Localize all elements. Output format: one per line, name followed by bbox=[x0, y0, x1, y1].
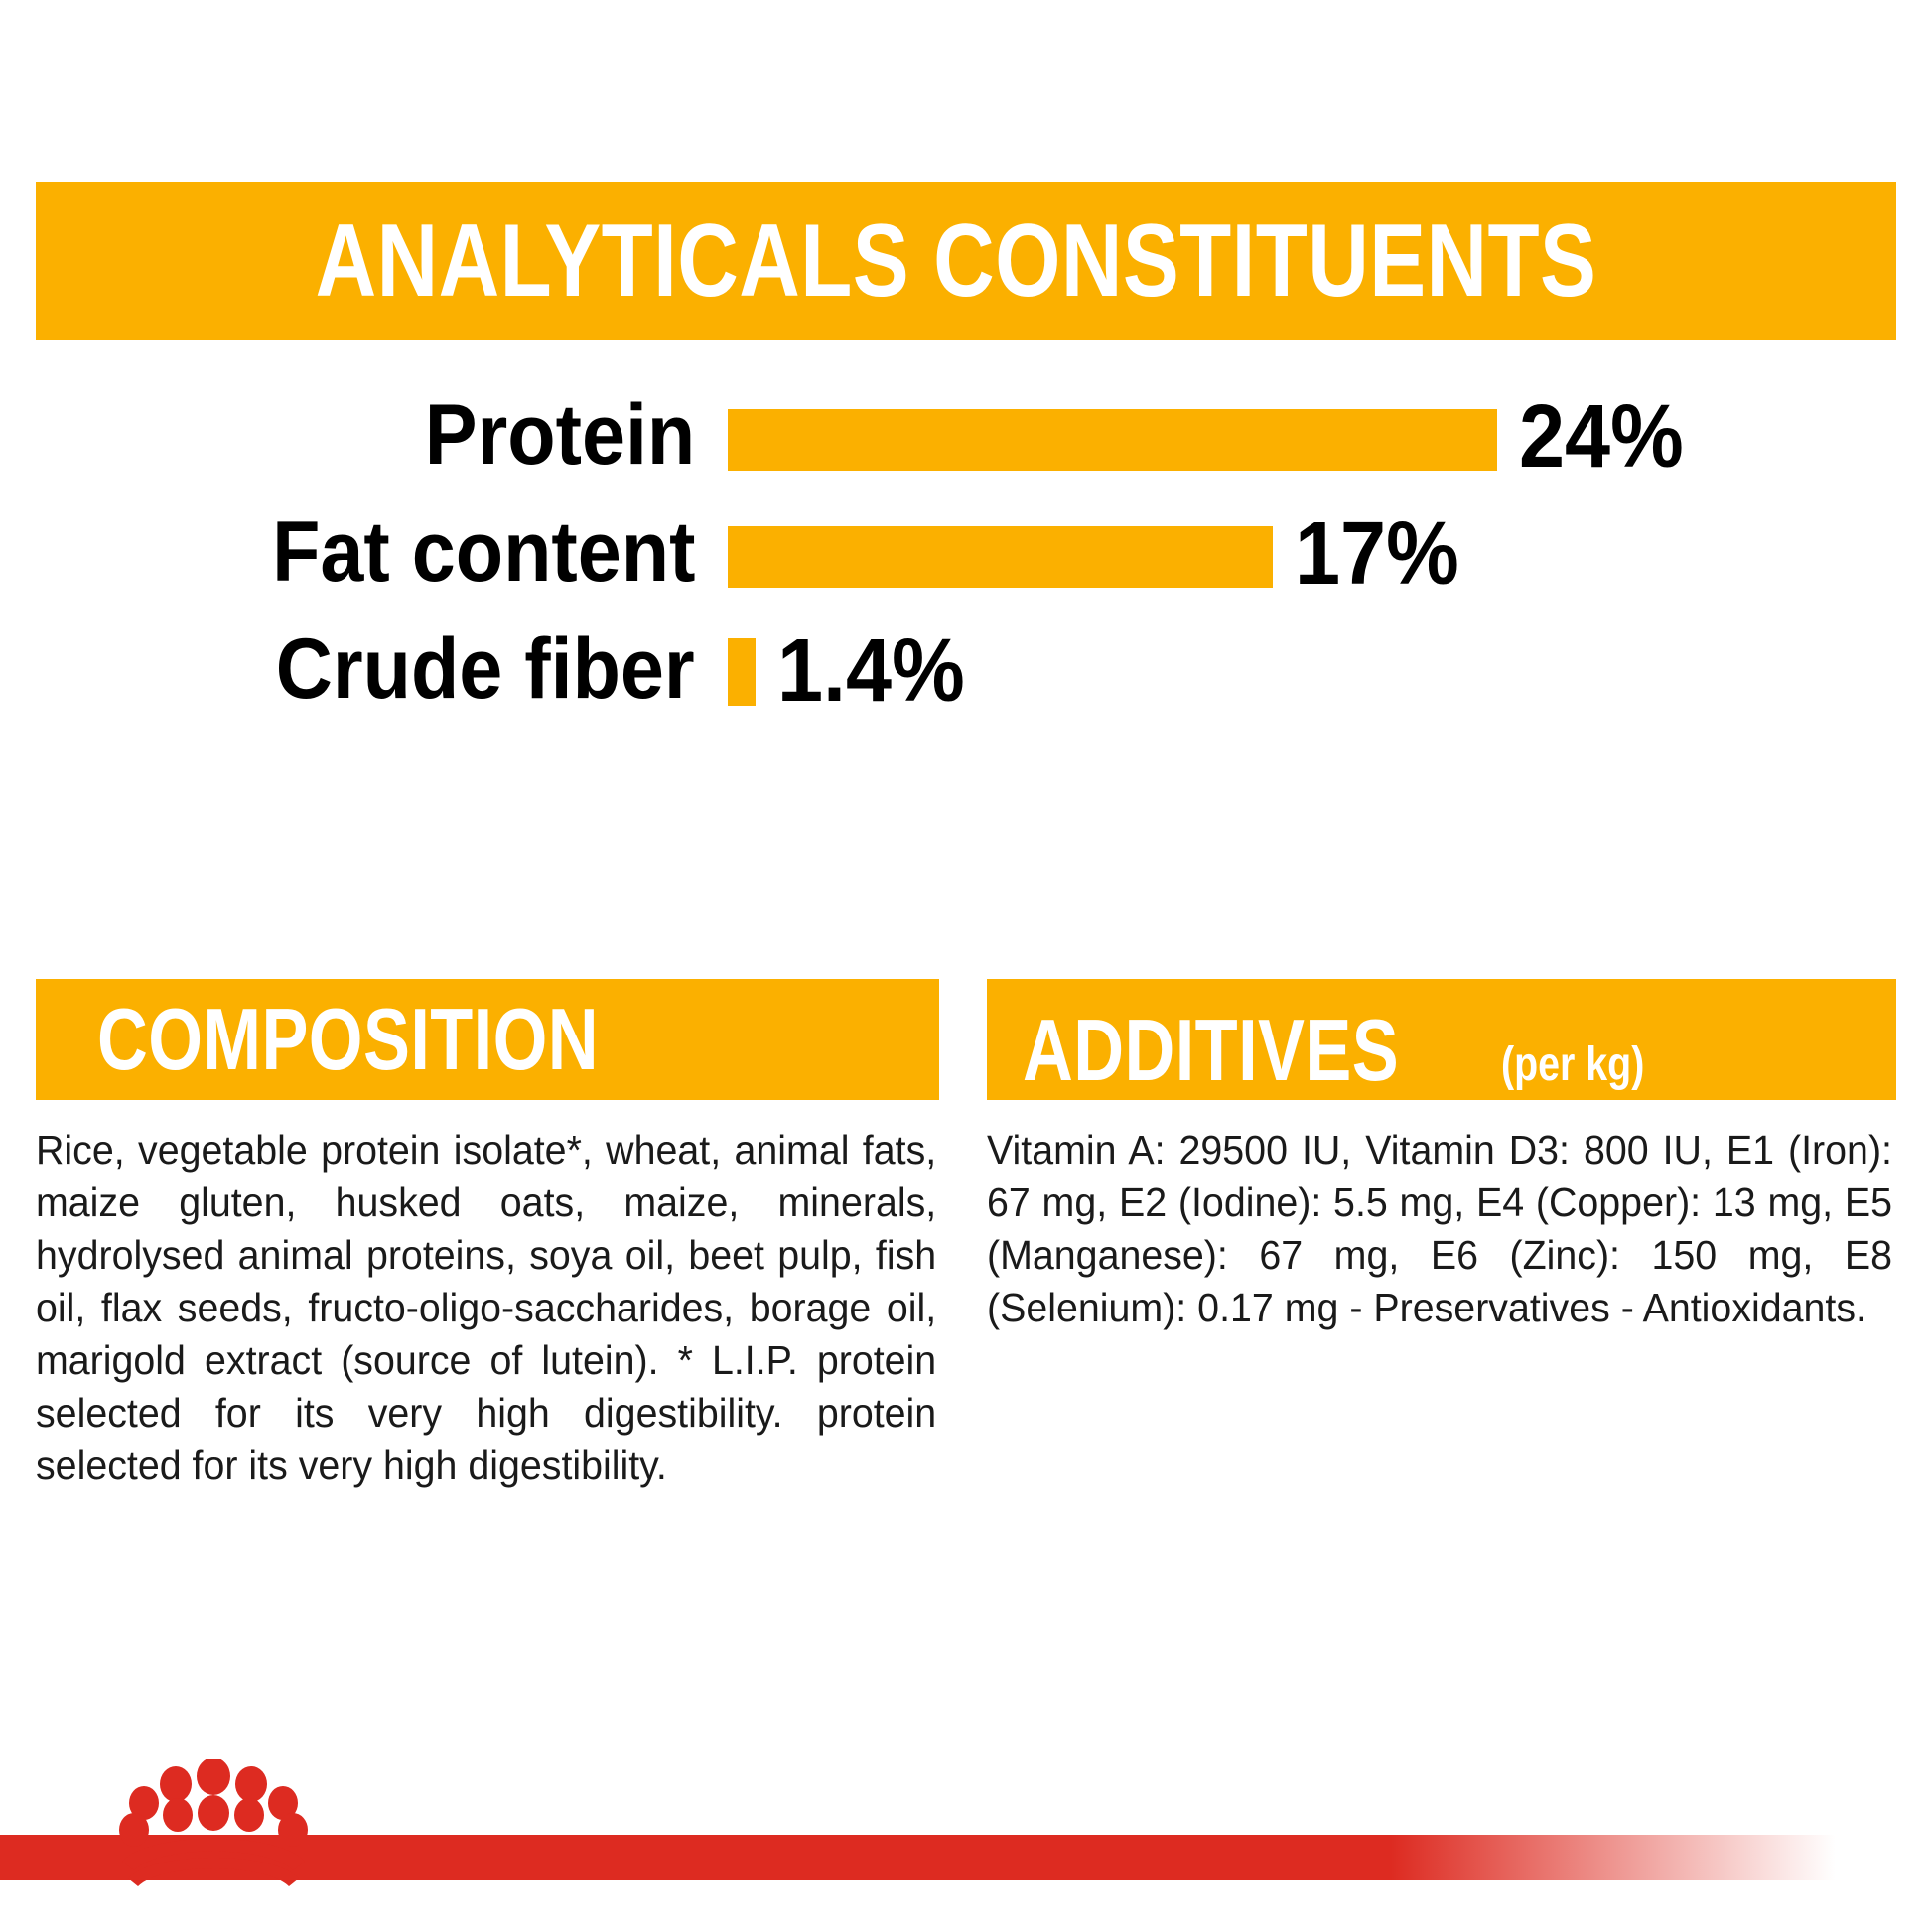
composition-header: COMPOSITION bbox=[36, 979, 939, 1100]
chart-bar-crude-fiber bbox=[728, 638, 756, 706]
additives-per-kg-label: (per kg) bbox=[1501, 1041, 1644, 1089]
chart-bar-fat-content bbox=[728, 526, 1273, 588]
chart-value-fat-content: 17% bbox=[1295, 509, 1459, 599]
additives-header: ADDITIVES (per kg) bbox=[987, 979, 1896, 1100]
composition-body-text: Rice, vegetable protein isolate*, wheat,… bbox=[36, 1124, 936, 1492]
composition-title: COMPOSITION bbox=[97, 996, 599, 1083]
chart-label-fat-content: Fat content bbox=[272, 509, 695, 595]
chart-bar-protein bbox=[728, 409, 1497, 471]
chart-value-protein: 24% bbox=[1519, 392, 1684, 482]
chart-row-fat-content: Fat content 17% bbox=[0, 509, 1932, 609]
chart-label-protein: Protein bbox=[424, 392, 695, 478]
chart-value-crude-fiber: 1.4% bbox=[777, 626, 965, 716]
analyticals-constituents-title: ANALYTICALS CONSTITUENTS bbox=[316, 209, 1597, 313]
additives-title: ADDITIVES bbox=[1023, 1007, 1399, 1094]
chart-row-protein: Protein 24% bbox=[0, 392, 1932, 491]
analyticals-constituents-header: ANALYTICALS CONSTITUENTS bbox=[36, 182, 1896, 340]
chart-label-crude-fiber: Crude fiber bbox=[276, 626, 695, 712]
royal-canin-crown-icon bbox=[104, 1759, 323, 1888]
analyticals-constituents-chart: Protein 24% Fat content 17% Crude fiber … bbox=[0, 392, 1932, 720]
additives-body-text: Vitamin A: 29500 IU, Vitamin D3: 800 IU,… bbox=[987, 1124, 1892, 1334]
chart-row-crude-fiber: Crude fiber 1.4% bbox=[0, 626, 1932, 726]
